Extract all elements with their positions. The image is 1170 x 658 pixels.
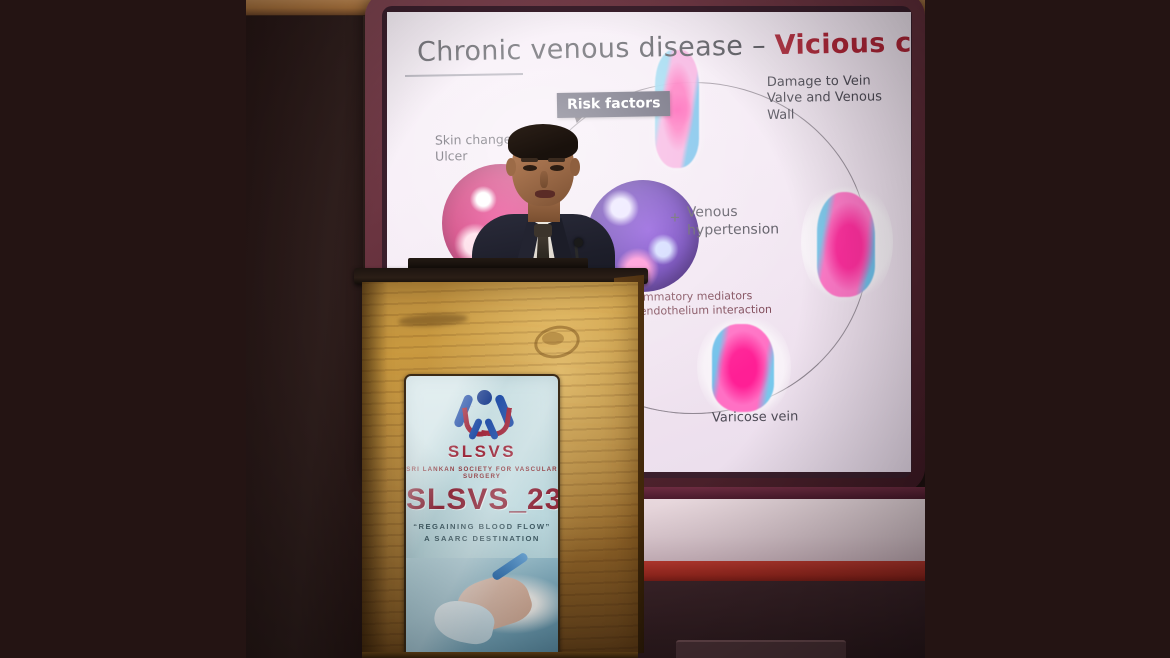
banner-society-name: SRI LANKAN SOCIETY FOR VASCULAR SURGERY xyxy=(406,466,558,480)
slide-title: Chronic venous disease – Vicious cycle o… xyxy=(417,27,911,68)
logo-head-circle xyxy=(477,390,492,405)
slsvs-logo-icon xyxy=(456,390,510,442)
speaker-mouth xyxy=(535,190,555,198)
damage-line2: Valve and Venous Wall xyxy=(767,89,911,124)
podium: SLSVS SRI LANKAN SOCIETY FOR VASCULAR SU… xyxy=(356,268,646,658)
speaker-ear-left xyxy=(506,158,516,176)
damaged-vein-illustration xyxy=(817,192,875,297)
damage-line1: Damage to Vein xyxy=(767,73,911,91)
plus-symbol: + xyxy=(670,208,680,228)
banner-event-code: SLSVS_23 xyxy=(406,483,558,517)
varicose-vein-label: Varicose vein xyxy=(712,409,799,426)
stage-base-edge xyxy=(676,640,846,658)
conference-photo: Chronic venous disease – Vicious cycle o… xyxy=(246,0,925,658)
screenshot-root: Chronic venous disease – Vicious cycle o… xyxy=(0,0,1170,658)
speaker-hair xyxy=(508,124,578,160)
title-underline xyxy=(405,73,523,77)
speaker-brow-right xyxy=(548,158,565,162)
slsvs-banner: SLSVS SRI LANKAN SOCIETY FOR VASCULAR SU… xyxy=(404,374,560,658)
letterbox-right xyxy=(925,0,1170,658)
speaker-tie-knot xyxy=(534,224,552,237)
banner-surgery-photo xyxy=(406,558,558,658)
banner-tagline-1: “REGAINING BLOOD FLOW” xyxy=(406,522,558,531)
podium-shadow xyxy=(362,282,388,658)
venous-hypertension-label: Venous hypertension xyxy=(687,203,779,239)
microphone-icon xyxy=(574,238,583,247)
speaker-nose xyxy=(540,171,548,188)
varicose-vein-illustration xyxy=(712,324,774,412)
venous-line1: Venous xyxy=(687,203,779,222)
venous-line2: hypertension xyxy=(687,221,779,240)
podium-wood-knot-core xyxy=(542,332,564,345)
damage-to-vein-label: Damage to Vein Valve and Venous Wall xyxy=(767,73,911,124)
banner-logo-text: SLSVS xyxy=(406,442,558,462)
banner-tagline-2: A SAARC DESTINATION xyxy=(406,534,558,543)
slide-title-accent: Vicious cycle of V xyxy=(774,25,911,61)
wall-pillar xyxy=(246,16,364,658)
podium-bottom-lip xyxy=(362,652,638,658)
letterbox-left xyxy=(0,0,246,658)
speaker-ear-right xyxy=(570,158,580,176)
speaker-eye-right xyxy=(550,165,564,171)
speaker-eye-left xyxy=(523,165,537,171)
speaker-brow-left xyxy=(521,158,538,162)
slide-title-plain: Chronic venous disease – xyxy=(417,30,775,68)
risk-factors-badge: Risk factors xyxy=(557,91,671,118)
